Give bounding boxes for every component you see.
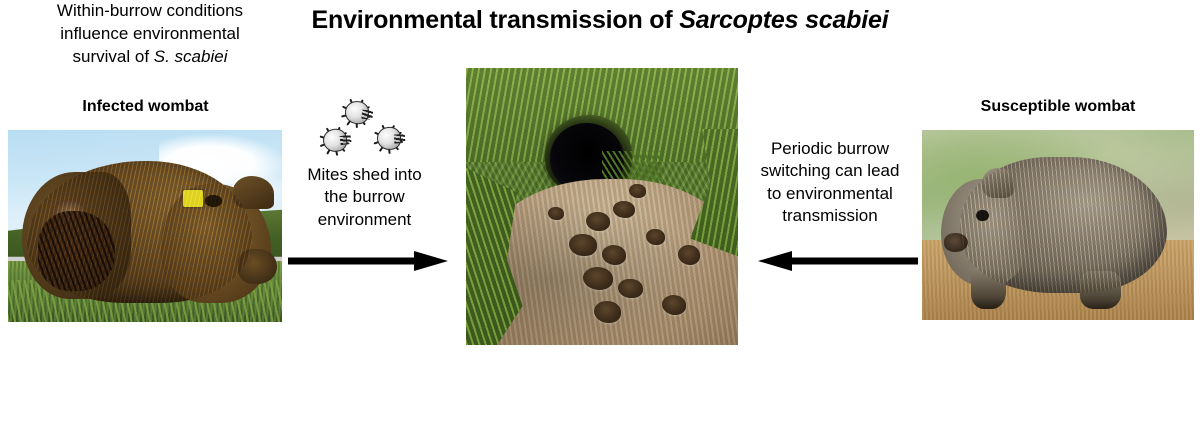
mite-icon	[337, 94, 374, 129]
wombat-burrow-photo	[466, 68, 738, 345]
soil-footprint	[569, 234, 596, 256]
soil-footprint	[646, 229, 665, 246]
mite-mouthparts	[394, 134, 406, 144]
burrow-switching-line-1: Periodic burrow	[740, 138, 920, 160]
susceptible-wombat-label: Susceptible wombat	[922, 98, 1194, 116]
soil-footprint	[548, 207, 564, 221]
soil-footprint	[618, 279, 642, 298]
burrow-switching-line-4: transmission	[740, 205, 920, 227]
mite-mouthparts	[361, 109, 373, 119]
figure-title-species: Sarcoptes scabiei	[679, 6, 888, 34]
figure-title-prefix: Environmental transmission of	[312, 6, 680, 34]
arrow-left-icon	[758, 250, 918, 272]
burrow-caption-line-3-prefix: survival of	[73, 47, 154, 66]
burrow-switching-line-2: switching can lead	[740, 160, 920, 182]
burrow-caption-line-3: survival of S. scabiei	[0, 46, 300, 69]
mites-shed-line-2: the burrow	[282, 186, 447, 208]
figure-title: Environmental transmission of Sarcoptes …	[0, 6, 1200, 35]
soil-footprint	[583, 267, 613, 289]
infected-wombat-label: Infected wombat	[8, 98, 283, 116]
mites-shed-line-1: Mites shed into	[282, 164, 447, 186]
soil-footprint	[678, 245, 700, 264]
figure-canvas: Environmental transmission of Sarcoptes …	[0, 0, 1200, 424]
burrow-caption-species: S. scabiei	[154, 47, 228, 66]
mite-icon	[370, 121, 406, 155]
soil-footprint	[594, 301, 621, 323]
infected-wombat-photo	[8, 130, 282, 322]
burrow-switching-text: Periodic burrow switching can lead to en…	[740, 138, 920, 228]
scabies-mites-illustration	[297, 96, 409, 162]
mites-shed-line-3: environment	[282, 209, 447, 231]
mite-mouthparts	[339, 134, 351, 144]
susceptible-wombat-photo	[922, 130, 1194, 320]
arrow-right-icon	[288, 250, 448, 272]
soil-footprint	[629, 184, 645, 198]
soil-footprint	[602, 245, 626, 264]
mites-shed-text: Mites shed into the burrow environment	[282, 164, 447, 231]
burrow-switching-line-3: to environmental	[740, 183, 920, 205]
soil-footprint	[662, 295, 686, 314]
fur-texture	[960, 157, 1167, 294]
soil-footprint	[613, 201, 635, 218]
